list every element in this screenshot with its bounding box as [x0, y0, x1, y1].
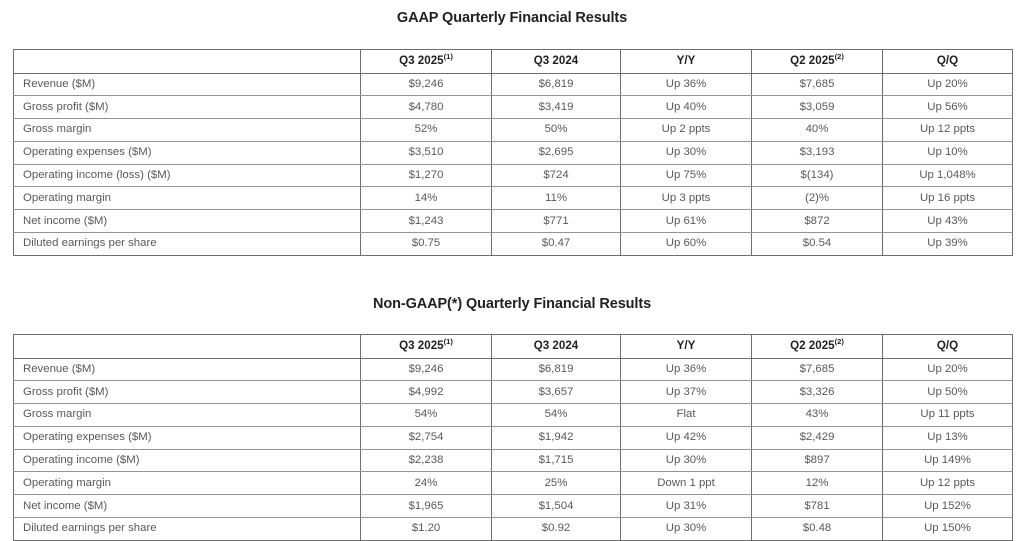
column-header-yy: Y/Y — [621, 335, 752, 359]
table-row: Operating income (loss) ($M)$1,270$724Up… — [14, 164, 1013, 187]
column-header-q2_2025: Q2 2025(2) — [752, 335, 883, 359]
cell-q3_2024: $771 — [492, 210, 621, 233]
cell-yy: Up 37% — [621, 381, 752, 404]
cell-q3_2025: $1,965 — [361, 495, 492, 518]
table-row: Diluted earnings per share$0.75$0.47Up 6… — [14, 233, 1013, 256]
column-header-footnote-marker: (1) — [444, 337, 453, 346]
cell-qq: Up 13% — [883, 426, 1013, 449]
nongaap-table-header: Q3 2025(1)Q3 2024Y/YQ2 2025(2)Q/Q — [14, 335, 1013, 359]
column-header-q3_2025: Q3 2025(1) — [361, 335, 492, 359]
cell-yy: Up 30% — [621, 518, 752, 541]
cell-yy: Up 75% — [621, 164, 752, 187]
cell-q3_2025: 52% — [361, 119, 492, 142]
cell-q2_2025: (2)% — [752, 187, 883, 210]
cell-q2_2025: $3,326 — [752, 381, 883, 404]
financial-results-page: GAAP Quarterly Financial Results Q3 2025… — [0, 0, 1024, 528]
cell-q3_2024: 50% — [492, 119, 621, 142]
cell-q2_2025: $2,429 — [752, 426, 883, 449]
column-header-q3_2025: Q3 2025(1) — [361, 50, 492, 74]
cell-q2_2025: $(134) — [752, 164, 883, 187]
cell-q3_2025: 54% — [361, 404, 492, 427]
cell-yy: Up 3 ppts — [621, 187, 752, 210]
table-row: Revenue ($M)$9,246$6,819Up 36%$7,685Up 2… — [14, 358, 1013, 381]
cell-qq: Up 39% — [883, 233, 1013, 256]
column-header-label — [14, 335, 361, 359]
gaap-table-header: Q3 2025(1)Q3 2024Y/YQ2 2025(2)Q/Q — [14, 50, 1013, 74]
cell-qq: Up 10% — [883, 141, 1013, 164]
row-label: Gross margin — [14, 404, 361, 427]
cell-q3_2024: 11% — [492, 187, 621, 210]
gaap-section-title: GAAP Quarterly Financial Results — [0, 9, 1024, 27]
row-label: Revenue ($M) — [14, 73, 361, 96]
cell-qq: Up 20% — [883, 358, 1013, 381]
table-row: Net income ($M)$1,965$1,504Up 31%$781Up … — [14, 495, 1013, 518]
cell-qq: Up 50% — [883, 381, 1013, 404]
cell-qq: Up 56% — [883, 96, 1013, 119]
column-header-q2_2025: Q2 2025(2) — [752, 50, 883, 74]
cell-q3_2025: 24% — [361, 472, 492, 495]
cell-qq: Up 16 ppts — [883, 187, 1013, 210]
row-label: Operating margin — [14, 472, 361, 495]
table-row: Operating income ($M)$2,238$1,715Up 30%$… — [14, 449, 1013, 472]
cell-q2_2025: $872 — [752, 210, 883, 233]
cell-q3_2025: $1,243 — [361, 210, 492, 233]
cell-yy: Up 36% — [621, 358, 752, 381]
column-header-label — [14, 50, 361, 74]
cell-q2_2025: $3,193 — [752, 141, 883, 164]
cell-q3_2025: $9,246 — [361, 358, 492, 381]
table-row: Operating expenses ($M)$2,754$1,942Up 42… — [14, 426, 1013, 449]
cell-q2_2025: $0.54 — [752, 233, 883, 256]
cell-q3_2025: $2,754 — [361, 426, 492, 449]
cell-q3_2024: 54% — [492, 404, 621, 427]
row-label: Operating margin — [14, 187, 361, 210]
cell-yy: Up 60% — [621, 233, 752, 256]
cell-yy: Up 40% — [621, 96, 752, 119]
cell-qq: Up 43% — [883, 210, 1013, 233]
column-header-q3_2024: Q3 2024 — [492, 50, 621, 74]
column-header-qq: Q/Q — [883, 335, 1013, 359]
cell-q3_2025: $4,780 — [361, 96, 492, 119]
gaap-table-body: Revenue ($M)$9,246$6,819Up 36%$7,685Up 2… — [14, 73, 1013, 255]
cell-q3_2025: $1,270 — [361, 164, 492, 187]
cell-q3_2024: $0.47 — [492, 233, 621, 256]
cell-yy: Up 31% — [621, 495, 752, 518]
cell-q2_2025: 40% — [752, 119, 883, 142]
nongaap-section-title: Non-GAAP(*) Quarterly Financial Results — [0, 295, 1024, 313]
column-header-footnote-marker: (2) — [835, 337, 844, 346]
row-label: Operating income (loss) ($M) — [14, 164, 361, 187]
cell-yy: Up 36% — [621, 73, 752, 96]
cell-q2_2025: $897 — [752, 449, 883, 472]
cell-qq: Up 11 ppts — [883, 404, 1013, 427]
cell-q2_2025: 12% — [752, 472, 883, 495]
nongaap-results-table: Q3 2025(1)Q3 2024Y/YQ2 2025(2)Q/Q Revenu… — [13, 334, 1013, 541]
column-header-q3_2024: Q3 2024 — [492, 335, 621, 359]
table-header-row: Q3 2025(1)Q3 2024Y/YQ2 2025(2)Q/Q — [14, 50, 1013, 74]
cell-qq: Up 149% — [883, 449, 1013, 472]
cell-yy: Up 42% — [621, 426, 752, 449]
cell-yy: Up 61% — [621, 210, 752, 233]
row-label: Diluted earnings per share — [14, 518, 361, 541]
row-label: Operating expenses ($M) — [14, 141, 361, 164]
table-row: Operating margin24%25%Down 1 ppt12%Up 12… — [14, 472, 1013, 495]
cell-q2_2025: $3,059 — [752, 96, 883, 119]
table-row: Operating expenses ($M)$3,510$2,695Up 30… — [14, 141, 1013, 164]
table-header-row: Q3 2025(1)Q3 2024Y/YQ2 2025(2)Q/Q — [14, 335, 1013, 359]
cell-qq: Up 12 ppts — [883, 472, 1013, 495]
cell-q3_2024: $2,695 — [492, 141, 621, 164]
table-row: Gross margin54%54%Flat43%Up 11 ppts — [14, 404, 1013, 427]
row-label: Gross margin — [14, 119, 361, 142]
cell-qq: Up 12 ppts — [883, 119, 1013, 142]
cell-q2_2025: $7,685 — [752, 73, 883, 96]
cell-q2_2025: 43% — [752, 404, 883, 427]
cell-q3_2025: $2,238 — [361, 449, 492, 472]
cell-q2_2025: $0.48 — [752, 518, 883, 541]
cell-yy: Up 30% — [621, 449, 752, 472]
column-header-yy: Y/Y — [621, 50, 752, 74]
cell-q3_2024: $1,942 — [492, 426, 621, 449]
cell-q2_2025: $7,685 — [752, 358, 883, 381]
row-label: Gross profit ($M) — [14, 96, 361, 119]
nongaap-table-body: Revenue ($M)$9,246$6,819Up 36%$7,685Up 2… — [14, 358, 1013, 540]
cell-q3_2024: $6,819 — [492, 73, 621, 96]
cell-q3_2025: $0.75 — [361, 233, 492, 256]
row-label: Operating income ($M) — [14, 449, 361, 472]
cell-q3_2024: $6,819 — [492, 358, 621, 381]
cell-qq: Up 150% — [883, 518, 1013, 541]
cell-yy: Up 2 ppts — [621, 119, 752, 142]
row-label: Gross profit ($M) — [14, 381, 361, 404]
row-label: Net income ($M) — [14, 210, 361, 233]
cell-qq: Up 152% — [883, 495, 1013, 518]
cell-q3_2024: $3,419 — [492, 96, 621, 119]
cell-yy: Down 1 ppt — [621, 472, 752, 495]
gaap-results-table: Q3 2025(1)Q3 2024Y/YQ2 2025(2)Q/Q Revenu… — [13, 49, 1013, 256]
table-row: Gross margin52%50%Up 2 ppts40%Up 12 ppts — [14, 119, 1013, 142]
cell-q3_2025: $3,510 — [361, 141, 492, 164]
cell-q3_2024: $3,657 — [492, 381, 621, 404]
table-row: Operating margin14%11%Up 3 ppts(2)%Up 16… — [14, 187, 1013, 210]
cell-yy: Flat — [621, 404, 752, 427]
cell-q3_2024: $1,715 — [492, 449, 621, 472]
table-row: Net income ($M)$1,243$771Up 61%$872Up 43… — [14, 210, 1013, 233]
cell-yy: Up 30% — [621, 141, 752, 164]
column-header-qq: Q/Q — [883, 50, 1013, 74]
cell-q2_2025: $781 — [752, 495, 883, 518]
cell-q3_2024: $724 — [492, 164, 621, 187]
table-row: Gross profit ($M)$4,780$3,419Up 40%$3,05… — [14, 96, 1013, 119]
table-row: Diluted earnings per share$1.20$0.92Up 3… — [14, 518, 1013, 541]
cell-q3_2025: $4,992 — [361, 381, 492, 404]
table-row: Revenue ($M)$9,246$6,819Up 36%$7,685Up 2… — [14, 73, 1013, 96]
cell-q3_2024: $0.92 — [492, 518, 621, 541]
cell-q3_2024: $1,504 — [492, 495, 621, 518]
cell-q3_2024: 25% — [492, 472, 621, 495]
column-header-footnote-marker: (1) — [444, 52, 453, 61]
row-label: Net income ($M) — [14, 495, 361, 518]
cell-q3_2025: $9,246 — [361, 73, 492, 96]
cell-qq: Up 20% — [883, 73, 1013, 96]
column-header-footnote-marker: (2) — [835, 52, 844, 61]
table-row: Gross profit ($M)$4,992$3,657Up 37%$3,32… — [14, 381, 1013, 404]
cell-qq: Up 1,048% — [883, 164, 1013, 187]
cell-q3_2025: $1.20 — [361, 518, 492, 541]
cell-q3_2025: 14% — [361, 187, 492, 210]
row-label: Revenue ($M) — [14, 358, 361, 381]
row-label: Operating expenses ($M) — [14, 426, 361, 449]
row-label: Diluted earnings per share — [14, 233, 361, 256]
